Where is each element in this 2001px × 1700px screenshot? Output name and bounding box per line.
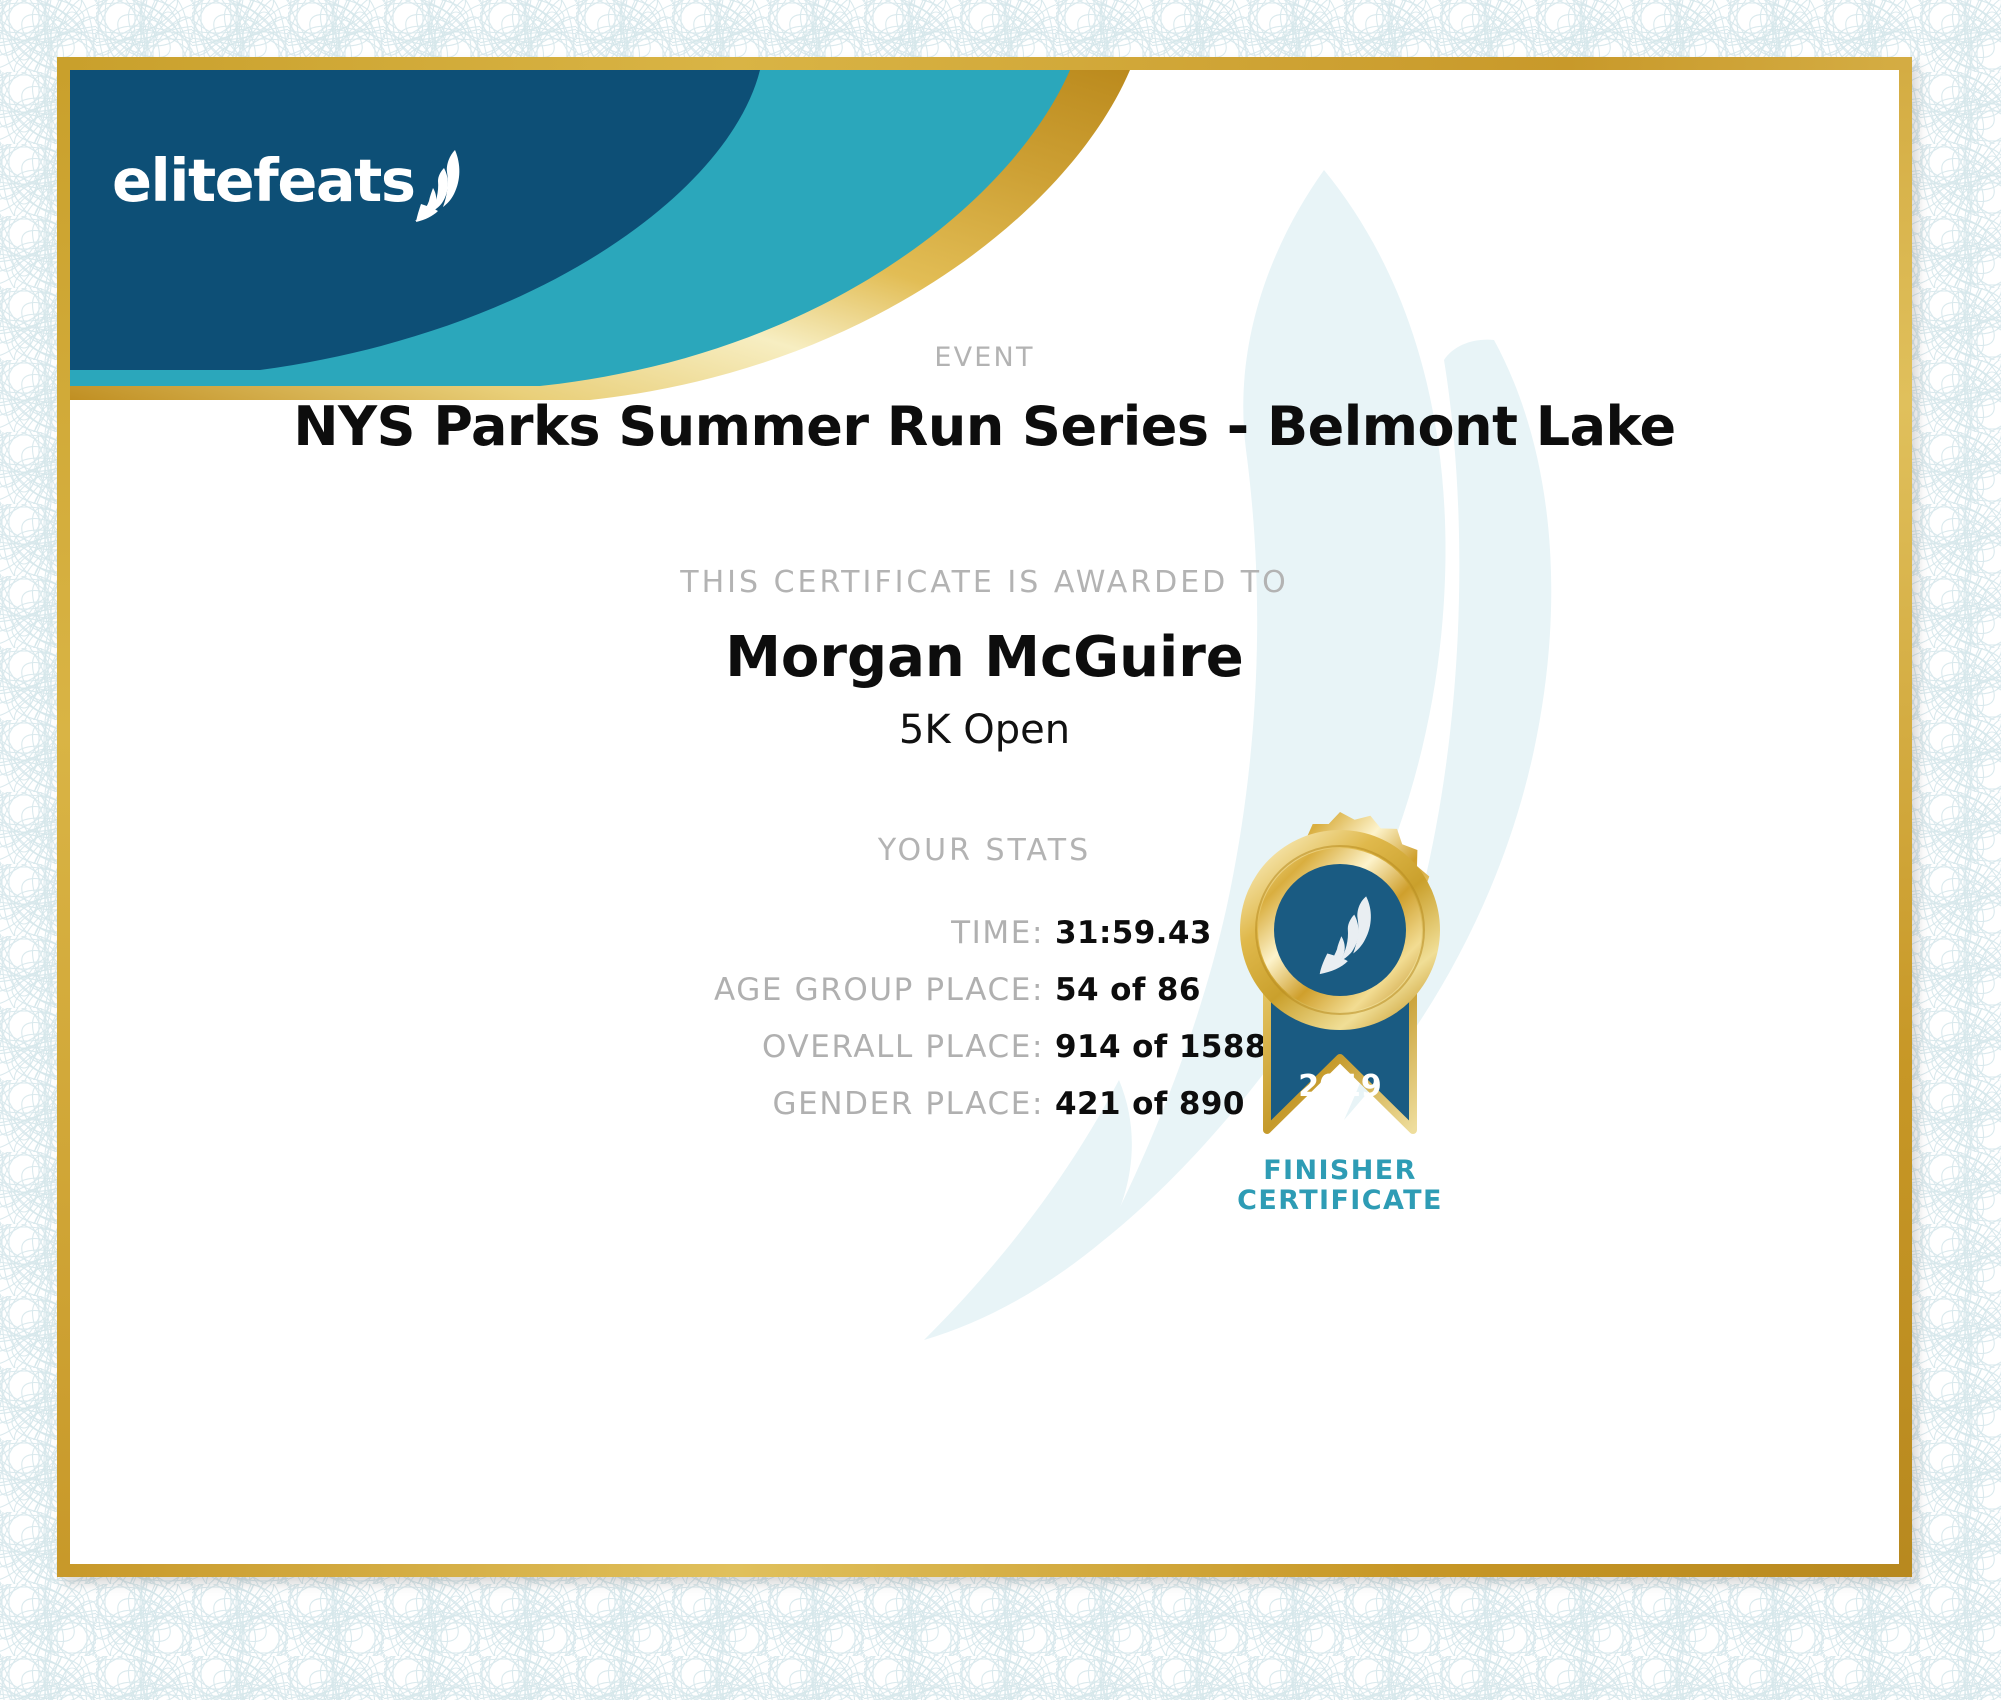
stats-table: TIME: 31:59.43 AGE GROUP PLACE: 54 of 86… — [70, 915, 1305, 1143]
certificate-body: elitefeats EVENT NYS Parks Summer Run Se… — [70, 70, 1899, 1564]
logo-wordmark: elitefeats — [112, 151, 415, 210]
stat-label-age-group-place: AGE GROUP PLACE: — [714, 972, 1044, 1008]
recipient-name: Morgan McGuire — [70, 625, 1899, 690]
stat-row-overall-place: OVERALL PLACE: 914 of 1588 — [70, 1029, 1305, 1065]
stat-row-gender-place: GENDER PLACE: 421 of 890 — [70, 1086, 1305, 1122]
stat-label-gender-place: GENDER PLACE: — [773, 1086, 1044, 1122]
medal-graphic: 2019 — [1195, 800, 1485, 1150]
badge-caption-line1: FINISHER — [1195, 1156, 1485, 1186]
stat-label-overall-place: OVERALL PLACE: — [762, 1029, 1044, 1065]
event-title: NYS Parks Summer Run Series - Belmont La… — [70, 395, 1899, 458]
badge-year-text: 2019 — [1298, 1069, 1382, 1104]
winged-foot-icon — [411, 148, 473, 224]
event-label: EVENT — [70, 342, 1899, 373]
your-stats-label: YOUR STATS — [70, 833, 1899, 868]
badge-caption: FINISHER CERTIFICATE — [1195, 1156, 1485, 1216]
stat-row-time: TIME: 31:59.43 — [70, 915, 1305, 951]
race-division: 5K Open — [70, 707, 1899, 753]
awarded-to-label: THIS CERTIFICATE IS AWARDED TO — [70, 565, 1899, 600]
elitefeats-logo: elitefeats — [112, 148, 473, 210]
badge-caption-line2: CERTIFICATE — [1195, 1186, 1485, 1216]
gold-border-frame: elitefeats EVENT NYS Parks Summer Run Se… — [57, 57, 1912, 1577]
certificate-page: elitefeats EVENT NYS Parks Summer Run Se… — [0, 0, 2001, 1700]
finisher-badge: 2019 FINISHER CERTIFICATE — [1195, 800, 1485, 1216]
stat-row-age-group-place: AGE GROUP PLACE: 54 of 86 — [70, 972, 1305, 1008]
stat-label-time: TIME: — [951, 915, 1044, 951]
certificate-content: EVENT NYS Parks Summer Run Series - Belm… — [70, 70, 1899, 1564]
